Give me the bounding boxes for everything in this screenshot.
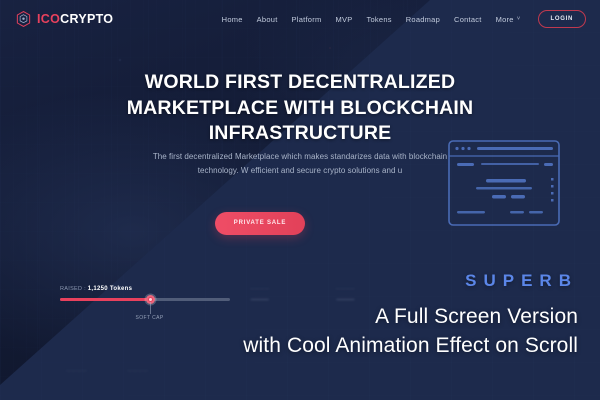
raise-progress-slider[interactable]: SOFT CAP	[60, 298, 230, 301]
nav-item-home[interactable]: Home	[215, 11, 250, 28]
nav-item-mvp[interactable]: MVP	[328, 11, 359, 28]
site-header: ICOCRYPTO Home About Platform MVP Tokens…	[0, 0, 600, 38]
blurred-bottom-item: ————	[66, 368, 87, 374]
nav-item-tokens[interactable]: Tokens	[359, 11, 398, 28]
blurred-stat: ———— ——	[336, 286, 356, 304]
soft-cap-label: SOFT CAP	[135, 315, 163, 321]
hero-headline: WORLD FIRST DECENTRALIZED MARKETPLACE WI…	[0, 70, 600, 147]
blurred-stat: ———— ——	[250, 286, 270, 304]
raised-label-prefix: RAISED :	[60, 286, 86, 292]
brand-logo[interactable]: ICOCRYPTO	[16, 11, 113, 27]
blurred-stat-value: ——	[250, 294, 270, 304]
blurred-bottom-item: ————	[127, 368, 148, 374]
raised-label-value: 1,1250 Tokens	[88, 286, 132, 292]
progress-fill	[60, 298, 150, 301]
nav-item-platform[interactable]: Platform	[285, 11, 329, 28]
chevron-down-icon: ˅	[517, 17, 521, 23]
nav-item-more[interactable]: More˅	[489, 11, 528, 28]
browser-window-illustration	[448, 140, 560, 226]
blurred-stats-row: ———— —— ———— ——	[250, 286, 355, 304]
brand-name-primary: ICO	[37, 12, 60, 26]
nav-item-more-label: More	[496, 15, 514, 24]
brand-name: ICOCRYPTO	[37, 13, 113, 26]
nav-item-roadmap[interactable]: Roadmap	[399, 11, 447, 28]
nav-item-contact[interactable]: Contact	[447, 11, 489, 28]
login-button[interactable]: LOGIN	[538, 10, 587, 28]
nav-item-about[interactable]: About	[250, 11, 285, 28]
blurred-stat-label: ————	[336, 286, 356, 291]
raised-label: RAISED : 1,1250 Tokens	[60, 286, 240, 292]
main-navigation: Home About Platform MVP Tokens Roadmap C…	[215, 10, 586, 28]
blurred-stat-label: ————	[250, 286, 270, 291]
private-sale-button[interactable]: PRIVATE SALE	[215, 212, 305, 235]
raised-progress-block: RAISED : 1,1250 Tokens SOFT CAP	[60, 286, 240, 301]
blurred-bottom-row: ———— ————	[66, 368, 148, 374]
blurred-stat-value: ——	[336, 294, 356, 304]
hexagon-logo-icon	[16, 11, 31, 27]
brand-name-secondary: CRYPTO	[60, 12, 113, 26]
hero-stage: ICOCRYPTO Home About Platform MVP Tokens…	[0, 0, 600, 400]
hero-content: WORLD FIRST DECENTRALIZED MARKETPLACE WI…	[0, 0, 600, 400]
soft-cap-tick	[150, 302, 151, 314]
